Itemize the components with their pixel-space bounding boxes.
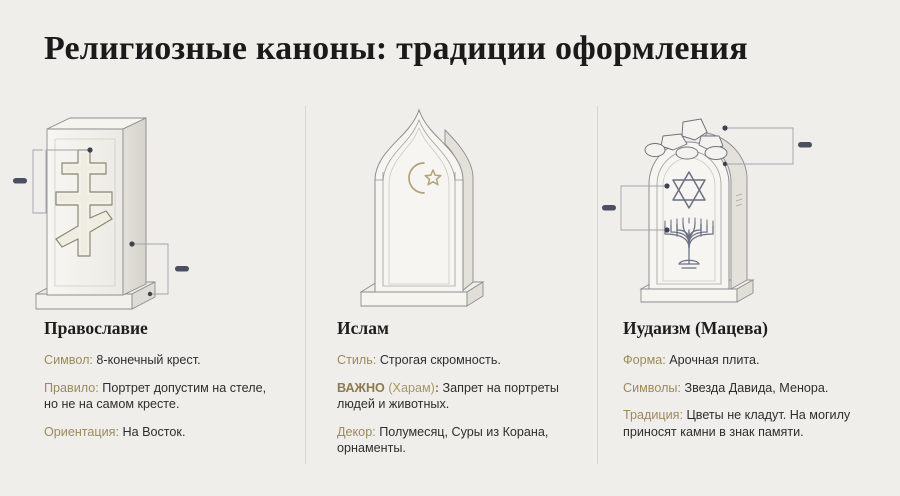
- fact-label: Форма:: [623, 353, 666, 367]
- fact-label: ВАЖНО (Харам):: [337, 381, 439, 395]
- fact-label: Стиль:: [337, 353, 376, 367]
- column-islam: Ислам Стиль: Строгая скромность. ВАЖНО (…: [305, 106, 597, 496]
- fact-label-word: ВАЖНО: [337, 381, 385, 395]
- fact-label: Декор:: [337, 425, 376, 439]
- fact-label: Символы:: [623, 381, 681, 395]
- judaism-callout-marker-2: [602, 205, 616, 211]
- fact-islam-style: Стиль: Строгая скромность.: [337, 352, 579, 369]
- islam-text-block: Ислам Стиль: Строгая скромность. ВАЖНО (…: [305, 318, 597, 468]
- fact-orthodox-orientation: Ориентация: На Восток.: [44, 424, 283, 441]
- fact-value: Арочная плита.: [669, 353, 759, 367]
- judaism-stele-front: [649, 142, 729, 289]
- fact-value: 8-конечный крест.: [96, 353, 200, 367]
- page-title: Религиозные каноны: традиции оформления: [44, 30, 748, 68]
- religion-name-islam: Ислам: [337, 318, 579, 339]
- orthodox-text-block: Православие Символ: 8-конечный крест. Пр…: [0, 318, 305, 451]
- columns-container: Православие Символ: 8-конечный крест. Пр…: [0, 106, 900, 496]
- fact-label: Символ:: [44, 353, 93, 367]
- fact-value: Строгая скромность.: [380, 353, 501, 367]
- fact-label: Правило:: [44, 381, 99, 395]
- judaism-callout-marker-1: [798, 142, 812, 148]
- fact-value: Звезда Давида, Менора.: [684, 381, 828, 395]
- religion-name-orthodox: Православие: [44, 318, 283, 339]
- judaism-illustration: [597, 106, 900, 318]
- fact-label-colon: :: [435, 381, 439, 395]
- fact-islam-decor: Декор: Полумесяц, Суры из Корана, орнаме…: [337, 424, 579, 457]
- fact-label: Традиция:: [623, 408, 683, 422]
- fact-label-paren: (Харам): [388, 381, 434, 395]
- fact-judaism-form: Форма: Арочная плита.: [623, 352, 886, 369]
- memorial-stones-icon: [645, 119, 727, 160]
- orthodox-callout-marker-2: [175, 266, 189, 272]
- column-orthodox: Православие Символ: 8-конечный крест. Пр…: [0, 106, 305, 496]
- fact-judaism-symbols: Символы: Звезда Давида, Менора.: [623, 380, 886, 397]
- fact-value: На Восток.: [123, 425, 186, 439]
- religion-name-judaism: Иудаизм (Мацева): [623, 318, 886, 339]
- orthodox-illustration: [0, 106, 305, 318]
- orthodox-callout-marker-1: [13, 178, 27, 184]
- orthodox-stele: [47, 118, 146, 295]
- judaism-text-block: Иудаизм (Мацева) Форма: Арочная плита. С…: [597, 318, 900, 451]
- fact-orthodox-symbol: Символ: 8-конечный крест.: [44, 352, 283, 369]
- fact-label: Ориентация:: [44, 425, 119, 439]
- fact-orthodox-rule: Правило: Портрет допустим на стеле, но н…: [44, 380, 283, 413]
- fact-islam-haram: ВАЖНО (Харам): Запрет на портреты людей …: [337, 380, 579, 413]
- fact-judaism-tradition: Традиция: Цветы не кладут. На могилу при…: [623, 407, 886, 440]
- column-judaism: Иудаизм (Мацева) Форма: Арочная плита. С…: [597, 106, 900, 496]
- islam-illustration: [305, 106, 597, 318]
